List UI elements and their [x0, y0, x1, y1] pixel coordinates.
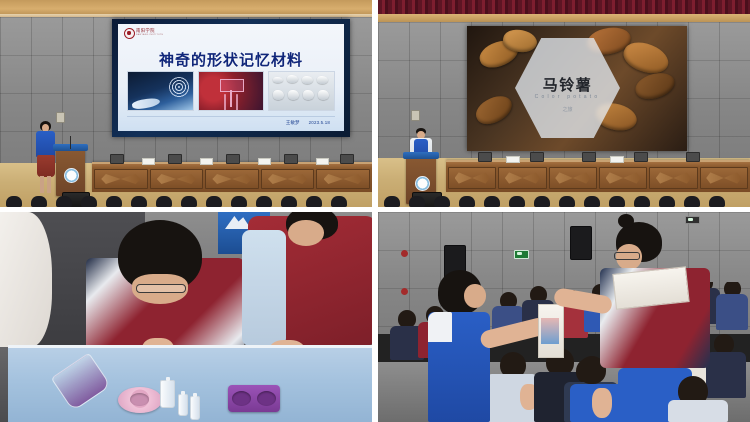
audience-head	[256, 196, 272, 207]
desk-microphone-unit	[110, 154, 124, 164]
desk-microphone-unit	[284, 154, 298, 164]
audience-head	[181, 196, 197, 207]
wall-panel-box	[411, 110, 420, 121]
presenter-skirt	[37, 155, 55, 177]
slide-image-strip	[127, 71, 335, 111]
volunteer-presenter	[420, 270, 540, 422]
presenter-leg-right	[47, 176, 51, 193]
desk-microphone-unit	[340, 154, 354, 164]
audience-head	[409, 196, 425, 207]
photo-panel-top-left: 南阳学院 NANYANG INSTITUTE 神奇的形状记忆材料	[0, 0, 372, 207]
audience-head	[131, 196, 147, 207]
audience-head	[231, 196, 247, 207]
presenter-leg-left	[40, 176, 44, 193]
slide-image-stent	[198, 71, 265, 111]
university-logo-icon	[124, 28, 135, 39]
slide-footer: 王敏梦2023.5.18	[277, 120, 330, 126]
desk-panel	[599, 167, 647, 189]
slide-date: 2023.5.18	[309, 120, 330, 125]
student-glasses-icon	[136, 284, 186, 293]
audience-head	[106, 196, 122, 207]
audience-row	[378, 196, 750, 207]
audience-head	[206, 196, 222, 207]
presenter-vest	[36, 131, 55, 157]
podium-emblem-icon	[64, 168, 79, 183]
newspaper-sheet	[612, 266, 689, 310]
student-shirt-blue	[242, 230, 286, 346]
conference-desk	[446, 160, 750, 192]
desk-panel	[261, 169, 315, 189]
desk-panel	[498, 167, 546, 189]
audience-head	[384, 196, 400, 207]
audience-head	[534, 196, 550, 207]
audience-head	[434, 196, 450, 207]
audience-head	[306, 196, 322, 207]
podium-emblem-icon	[415, 176, 430, 191]
photo-panel-bottom-left	[0, 212, 372, 422]
desk-microphone-unit	[478, 152, 492, 162]
audience-head	[281, 196, 297, 207]
desk-panel	[205, 169, 259, 189]
desk-microphone-unit	[168, 154, 182, 164]
desk-panel	[150, 169, 204, 189]
slide-divider	[127, 116, 335, 117]
desk-nameplate	[200, 158, 213, 165]
conference-desk	[92, 162, 372, 192]
podium-microphone-icon	[70, 136, 71, 149]
stage-curtain	[378, 0, 750, 15]
desk-panel	[448, 167, 496, 189]
audience-head	[331, 196, 347, 207]
audience-row	[0, 196, 372, 207]
photo-panel-top-right: 马铃薯 Color potato 之旅	[378, 0, 750, 207]
student-face	[288, 220, 324, 246]
audience-head	[634, 196, 650, 207]
desk-panel	[316, 169, 370, 189]
desk-nameplate	[258, 158, 271, 165]
audience-head	[559, 196, 575, 207]
dropper-bottle	[178, 394, 188, 416]
audience-head	[31, 196, 47, 207]
slide-title: 神奇的形状记忆材料	[118, 49, 344, 70]
audience-head	[484, 196, 500, 207]
pink-flower-mold	[118, 387, 162, 413]
audience-head	[509, 196, 525, 207]
desk-nameplate	[316, 158, 329, 165]
podium	[56, 148, 85, 196]
exit-sign-icon	[514, 250, 529, 259]
student-glasses-icon	[614, 252, 640, 260]
audience-head	[81, 196, 97, 207]
slide-presenter-name: 王敏梦	[286, 120, 300, 125]
foreground-arm-white	[0, 212, 52, 347]
desk-nameplate	[142, 158, 155, 165]
audience-head	[459, 196, 475, 207]
slide-image-samples	[268, 71, 335, 111]
audience-head	[156, 196, 172, 207]
clapping-hand	[592, 388, 612, 418]
university-logo-subtext: NANYANG INSTITUTE	[136, 34, 163, 36]
audience-head	[709, 196, 725, 207]
photo-panel-bottom-right	[378, 212, 750, 422]
purple-silicone-mold	[228, 385, 280, 412]
slide-content: 南阳学院 NANYANG INSTITUTE 神奇的形状记忆材料	[118, 24, 344, 131]
slide-mark: 之旅	[515, 106, 620, 113]
desk-panel	[649, 167, 697, 189]
slide-subtitle: Color potato	[515, 94, 620, 100]
volunteer-face	[464, 284, 486, 308]
photo-collage: 南阳学院 NANYANG INSTITUTE 神奇的形状记忆材料	[0, 0, 750, 422]
alarm-light-icon	[401, 250, 408, 257]
audience-head	[684, 196, 700, 207]
audience-head	[6, 196, 22, 207]
desk-panel	[549, 167, 597, 189]
desk-microphone-unit	[226, 154, 240, 164]
slide-title: 马铃薯	[515, 74, 620, 95]
desk-nameplate	[506, 156, 520, 163]
projection-screen: 马铃薯 Color potato 之旅	[467, 26, 687, 151]
student-hair-bun	[618, 214, 634, 228]
slide-potato	[472, 91, 516, 128]
slide-image-space-shuttle	[127, 71, 194, 111]
dropper-bottle	[190, 396, 200, 420]
audience-head	[56, 196, 72, 207]
gift-bag-graphic	[541, 318, 559, 344]
university-logo-text: 南阳学院	[136, 28, 155, 33]
reagent-bottle	[160, 380, 175, 408]
audience-head	[584, 196, 600, 207]
slide-potato	[633, 70, 678, 103]
podium-top-surface	[403, 152, 439, 159]
desk-panel-row	[446, 167, 750, 189]
audience-body-front	[668, 400, 728, 422]
audience-head	[609, 196, 625, 207]
wall-speaker	[570, 226, 592, 260]
desk-panel	[94, 169, 148, 189]
volunteer-shirt	[428, 312, 452, 342]
desk-nameplate	[610, 156, 624, 163]
desk-microphone-unit	[634, 152, 648, 162]
desk-panel-row	[92, 169, 372, 189]
desk-microphone-unit	[686, 152, 700, 162]
desk-microphone-unit	[582, 152, 596, 162]
projection-screen: 南阳学院 NANYANG INSTITUTE 神奇的形状记忆材料	[112, 19, 350, 137]
audience-head	[659, 196, 675, 207]
desk-microphone-unit	[530, 152, 544, 162]
desk-panel	[700, 167, 748, 189]
student-standing	[596, 218, 720, 368]
